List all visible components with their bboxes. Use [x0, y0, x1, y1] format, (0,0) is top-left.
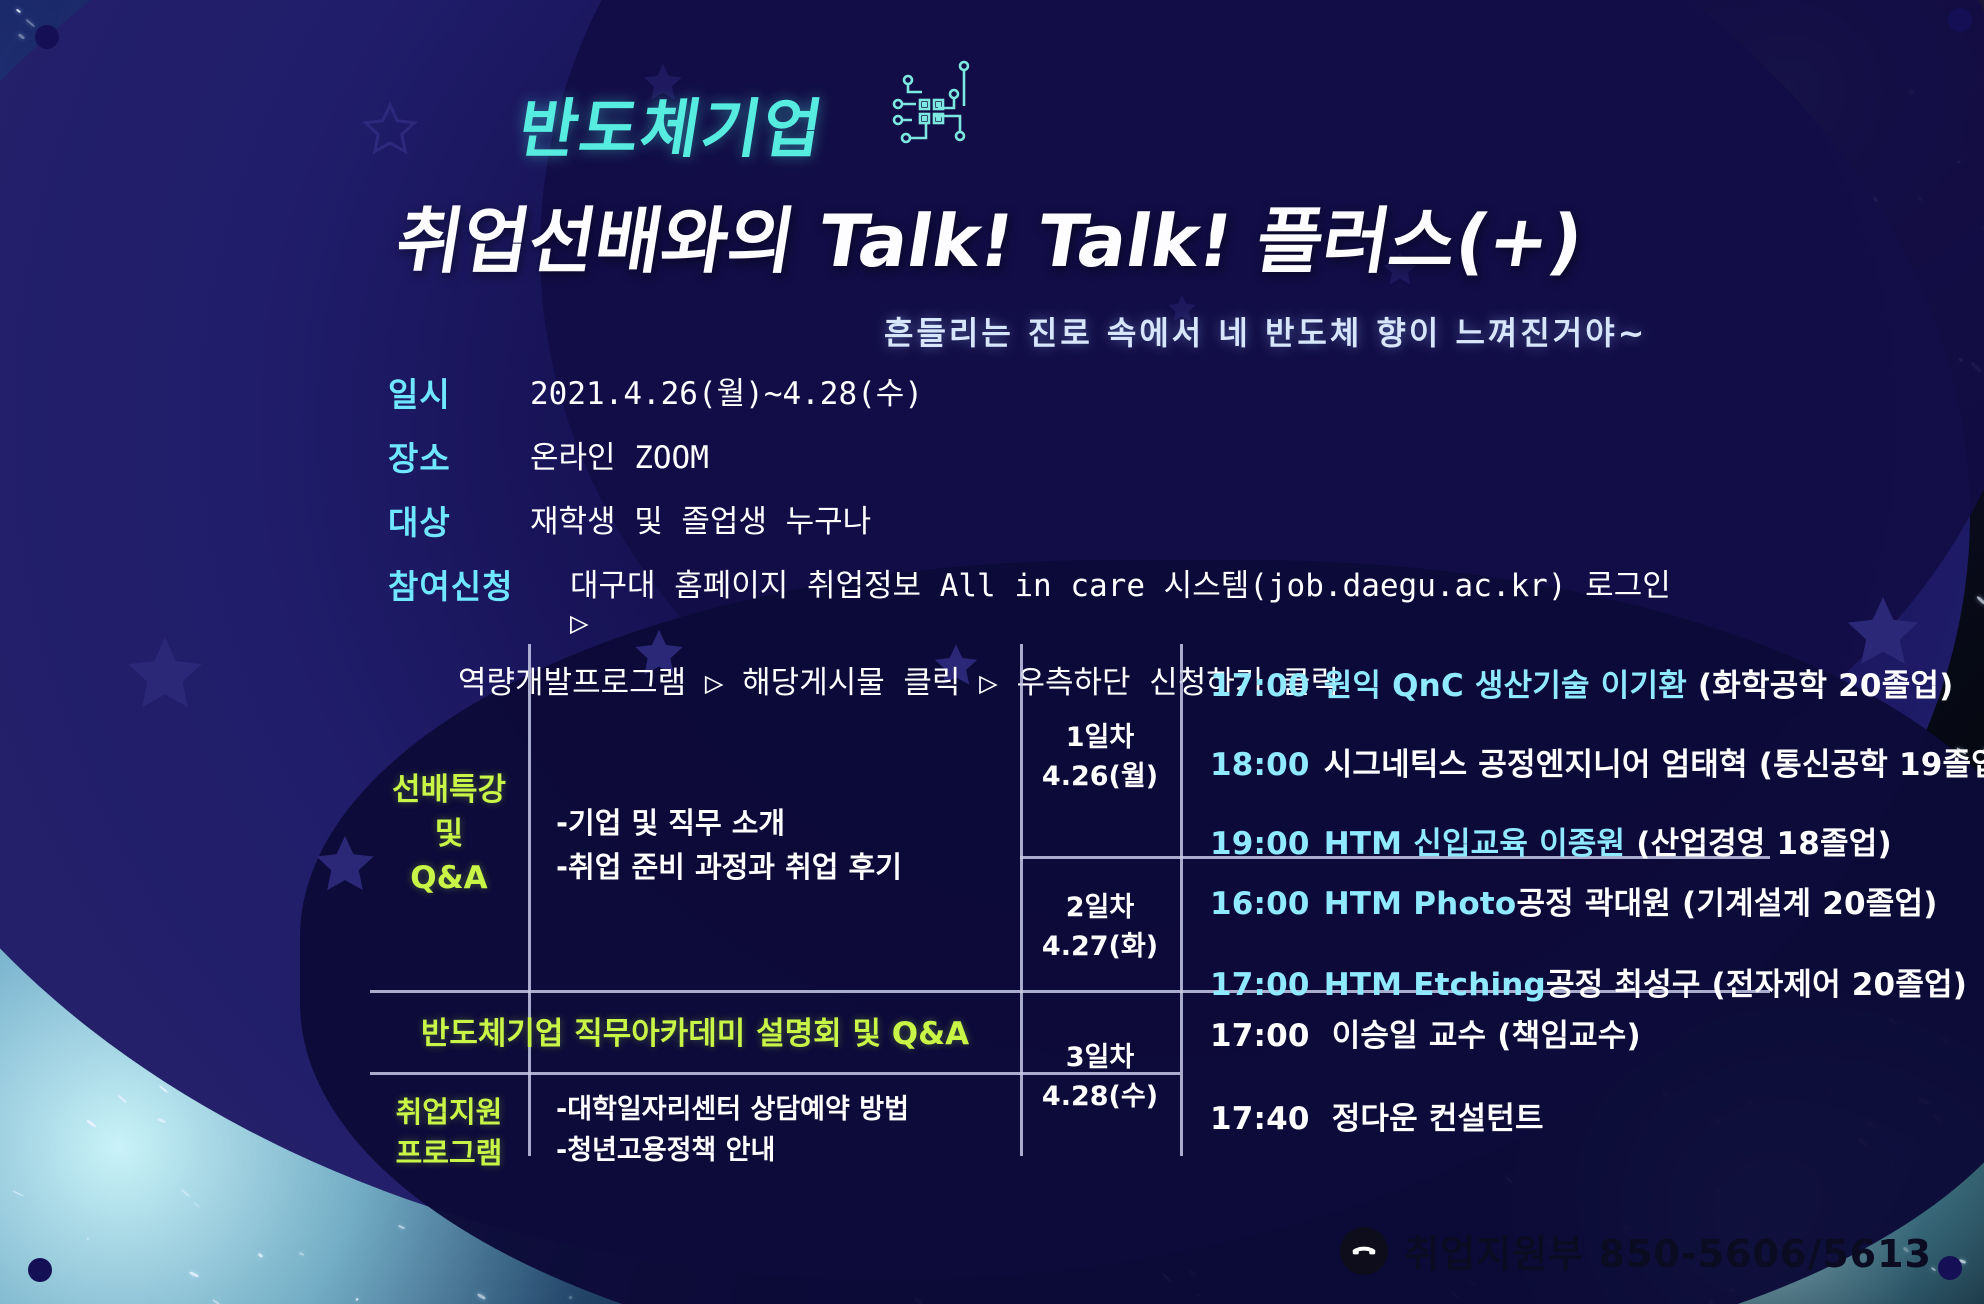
decorative-star: [120, 630, 210, 720]
info-row-audience: 대상 재학생 및 졸업생 누구나: [388, 496, 1688, 544]
schedule-detail-1: -기업 및 직무 소개 -취업 준비 과정과 취업 후기: [556, 802, 1006, 889]
session-row: 17:00 이승일 교수 (책임교수): [1210, 1010, 1770, 1055]
info-value-date: 2021.4.26(월)~4.28(수): [516, 368, 923, 413]
detail-3-line: -청년고용정책 안내: [556, 1131, 1016, 1172]
detail-3-line: -대학일자리센터 상담예약 방법: [556, 1090, 1016, 1131]
day-1-date: 4.26(월): [1020, 757, 1180, 796]
session-title: HTM Etching: [1324, 967, 1546, 1003]
session-detail: 공정 곽대원 (기계설계 20졸업): [1516, 886, 1937, 922]
day-2-date: 4.27(화): [1020, 927, 1180, 966]
corner-dot: [28, 1258, 52, 1282]
poster-subtitle: 흔들리는 진로 속에서 네 반도체 향이 느껴진거야~: [884, 308, 1647, 354]
info-row-apply: 참여신청 대구대 홈페이지 취업정보 All in care 시스템(job.d…: [388, 560, 1688, 641]
category-3-line: 프로그램: [370, 1133, 528, 1174]
category-3-line: 취업지원: [370, 1092, 528, 1133]
schedule-day-2: 2일차 4.27(화): [1020, 888, 1180, 966]
decorative-star: [360, 100, 420, 160]
schedule-category-3: 취업지원 프로그램: [370, 1092, 528, 1174]
session-detail: (산업경영 18졸업): [1636, 826, 1892, 862]
session-time: 19:00: [1210, 826, 1310, 862]
category-1-line: 및: [370, 812, 528, 856]
session-detail: 공정 최성구 (전자제어 20졸업): [1546, 967, 1967, 1003]
day-2-label: 2일차: [1020, 888, 1180, 927]
session-time: 18:00: [1210, 747, 1310, 783]
detail-1-line: -취업 준비 과정과 취업 후기: [556, 846, 1006, 890]
session-row: 18:00시그네틱스 공정엔지니어 엄태혁 (통신공학 19졸업): [1210, 739, 1770, 784]
schedule-day-1: 1일차 4.26(월): [1020, 718, 1180, 796]
session-row: 17:00원익 QnC 생산기술 이기환 (화학공학 20졸업): [1210, 660, 1770, 705]
page-title: 취업선배와의 Talk! Talk! 플러스(+): [390, 182, 1592, 287]
schedule-sessions-day-3: 17:00 이승일 교수 (책임교수) 17:40 정다운 컨설턴트: [1210, 1010, 1770, 1138]
category-1-line: 선배특강: [370, 768, 528, 812]
session-time: 17:00: [1210, 1018, 1310, 1054]
session-detail: 시그네틱스 공정엔지니어 엄태혁 (통신공학 19졸업): [1324, 747, 1984, 783]
day-3-date: 4.28(수): [1020, 1077, 1180, 1116]
day-1-label: 1일차: [1020, 718, 1180, 757]
footer-contact: 취업지원부 850-5606/5613: [1340, 1223, 1932, 1278]
info-value-apply: 대구대 홈페이지 취업정보 All in care 시스템(job.daegu.…: [556, 560, 1688, 641]
session-time: 17:40: [1210, 1101, 1310, 1137]
table-rule-vertical: [1180, 644, 1183, 1156]
footer-text: 취업지원부 850-5606/5613: [1404, 1223, 1932, 1278]
session-title: HTM 신입교육 이종원: [1324, 826, 1626, 862]
kicker-text: 반도체기업: [513, 78, 832, 170]
schedule-table: 선배특강 및 Q&A -기업 및 직무 소개 -취업 준비 과정과 취업 후기 …: [370, 640, 1770, 1160]
info-label-date: 일시: [388, 368, 516, 416]
phone-icon: [1340, 1227, 1388, 1275]
session-row: 16:00HTM Photo공정 곽대원 (기계설계 20졸업): [1210, 878, 1770, 923]
info-row-date: 일시 2021.4.26(월)~4.28(수): [388, 368, 1688, 416]
session-row: 17:00HTM Etching공정 최성구 (전자제어 20졸업): [1210, 959, 1770, 1004]
poster-root: 반도체기업 취업선배와의 Talk! Talk! 플러스(+) 흔들리는 진로 …: [0, 0, 1984, 1304]
corner-dot: [1948, 8, 1972, 32]
corner-dot: [1938, 1256, 1962, 1280]
session-detail: 정다운 컨설턴트: [1332, 1101, 1544, 1137]
schedule-detail-3: -대학일자리센터 상담예약 방법 -청년고용정책 안내: [556, 1090, 1016, 1171]
decorative-star: [1840, 590, 1926, 676]
session-title: HTM Photo: [1324, 886, 1517, 922]
detail-1-line: -기업 및 직무 소개: [556, 802, 1006, 846]
info-row-place: 장소 온라인 ZOOM: [388, 432, 1688, 480]
session-time: 17:00: [1210, 967, 1310, 1003]
schedule-sessions-day-1: 17:00원익 QnC 생산기술 이기환 (화학공학 20졸업) 18:00시그…: [1210, 660, 1770, 863]
circuit-chip-icon: [882, 58, 982, 158]
session-time: 17:00: [1210, 668, 1310, 704]
info-label-place: 장소: [388, 432, 516, 480]
schedule-category-1: 선배특강 및 Q&A: [370, 768, 528, 900]
session-row: 19:00HTM 신입교육 이종원 (산업경영 18졸업): [1210, 818, 1770, 863]
schedule-day-3: 3일차 4.28(수): [1020, 1038, 1180, 1116]
schedule-category-2: 반도체기업 직무아카데미 설명회 및 Q&A: [370, 1012, 1020, 1056]
session-title: 원익 QnC 생산기술 이기환: [1324, 668, 1687, 704]
session-time: 16:00: [1210, 886, 1310, 922]
schedule-sessions-day-2: 16:00HTM Photo공정 곽대원 (기계설계 20졸업) 17:00HT…: [1210, 878, 1770, 1004]
info-value-place: 온라인 ZOOM: [516, 432, 709, 477]
session-row: 17:40 정다운 컨설턴트: [1210, 1093, 1770, 1138]
info-label-audience: 대상: [388, 496, 516, 544]
info-label-apply: 참여신청: [388, 560, 556, 608]
session-detail: 이승일 교수 (책임교수): [1332, 1018, 1641, 1054]
table-rule-vertical: [528, 644, 531, 1156]
category-2-text: 반도체기업 직무아카데미 설명회 및 Q&A: [370, 1012, 1020, 1056]
session-detail: (화학공학 20졸업): [1698, 668, 1954, 704]
day-3-label: 3일차: [1020, 1038, 1180, 1077]
category-1-line: Q&A: [370, 856, 528, 900]
info-value-audience: 재학생 및 졸업생 누구나: [516, 496, 871, 541]
corner-dot: [35, 25, 59, 49]
